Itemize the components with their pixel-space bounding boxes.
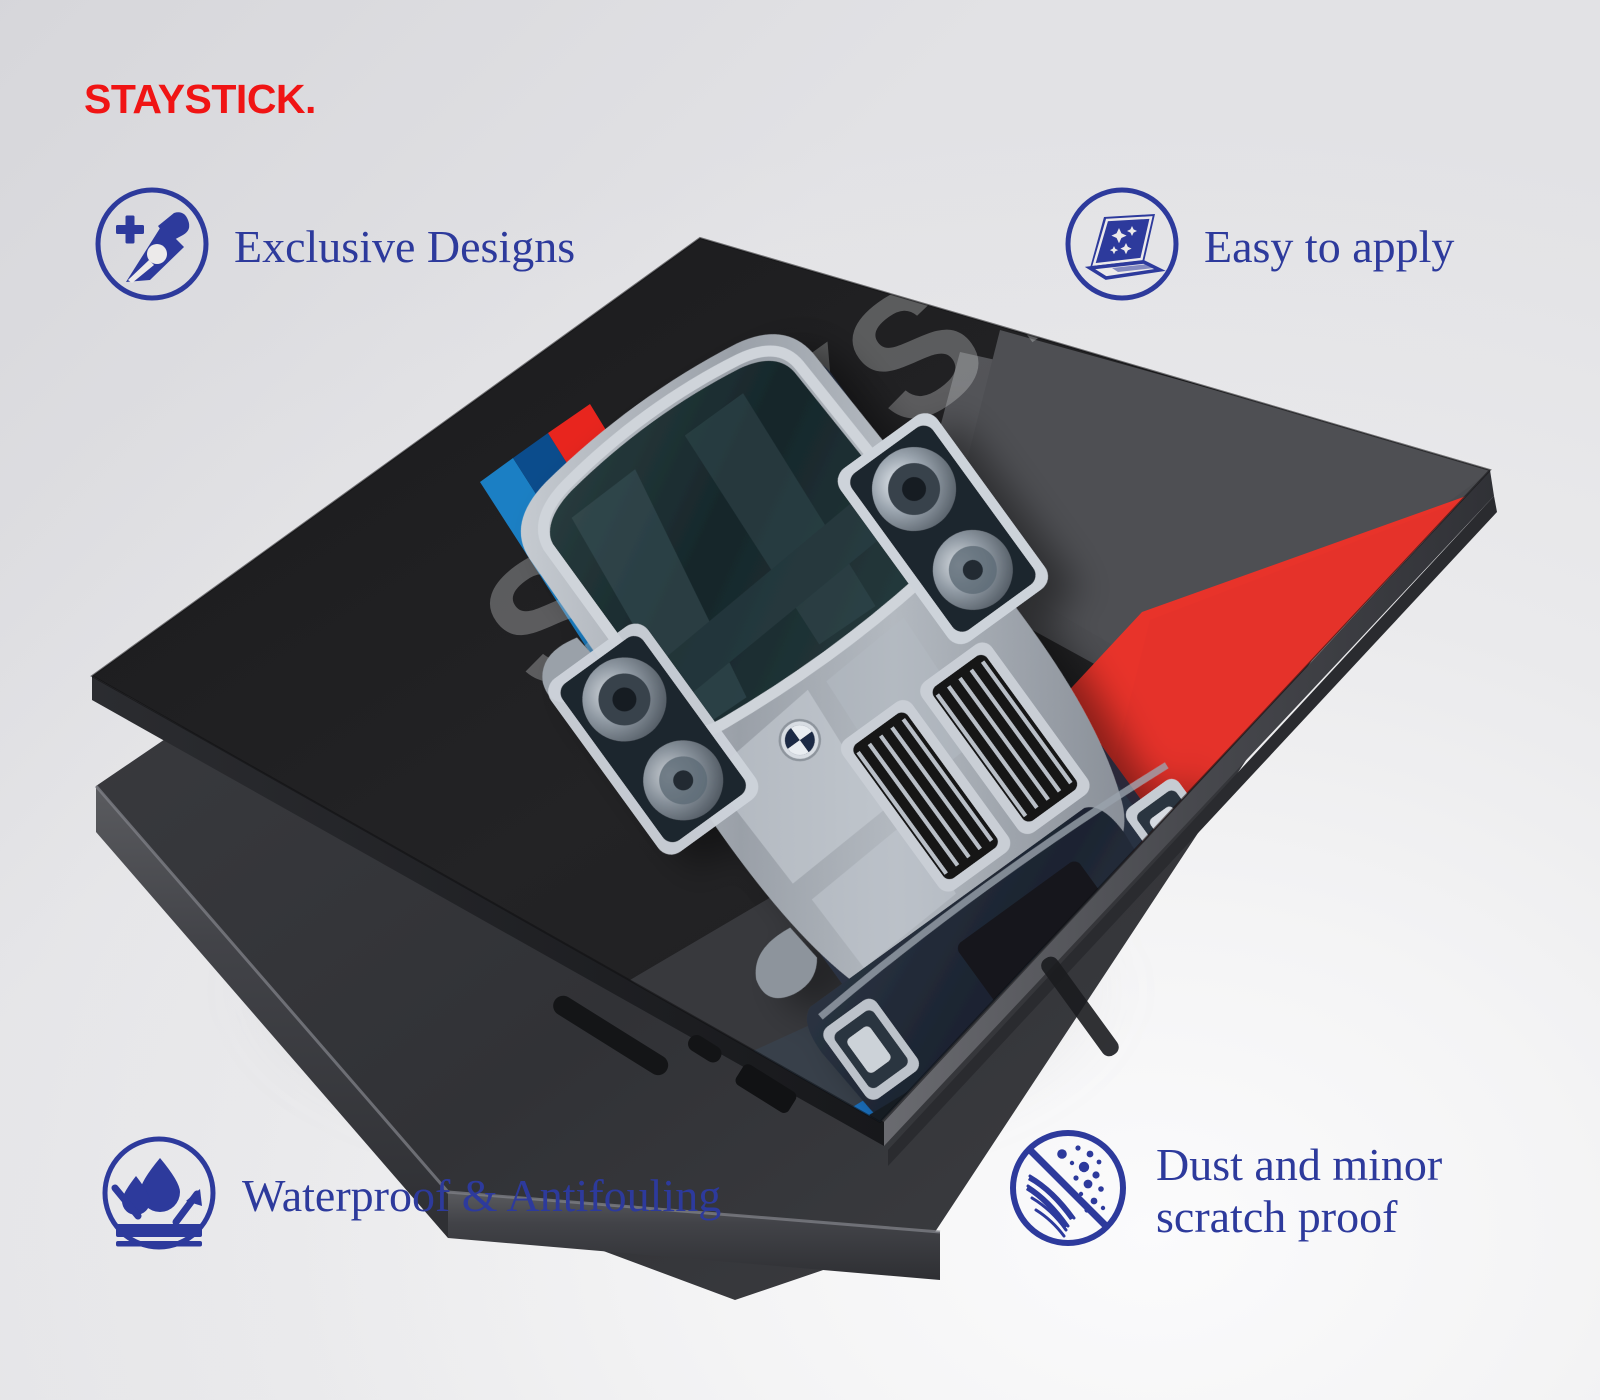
laptop-sparkle-icon bbox=[1062, 184, 1182, 309]
feature-easy-to-apply: Easy to apply bbox=[1062, 184, 1454, 309]
feature-exclusive-designs: Exclusive Designs bbox=[92, 184, 575, 309]
pen-nib-plus-icon bbox=[92, 184, 212, 309]
feature-dust-scratch-proof: Dust and minor scratch proof bbox=[1002, 1122, 1442, 1259]
water-droplet-repel-icon bbox=[98, 1132, 220, 1259]
feature-exclusive-label: Exclusive Designs bbox=[234, 222, 575, 272]
feature-dust-label: Dust and minor scratch proof bbox=[1156, 1139, 1442, 1242]
no-dust-scratch-icon bbox=[1002, 1122, 1134, 1259]
feature-easy-label: Easy to apply bbox=[1204, 222, 1454, 272]
product-image-canvas: STAYSTICK. bbox=[0, 0, 1600, 1400]
feature-waterproof-label: Waterproof & Antifouling bbox=[242, 1171, 721, 1221]
feature-waterproof-antifouling: Waterproof & Antifouling bbox=[98, 1132, 721, 1259]
